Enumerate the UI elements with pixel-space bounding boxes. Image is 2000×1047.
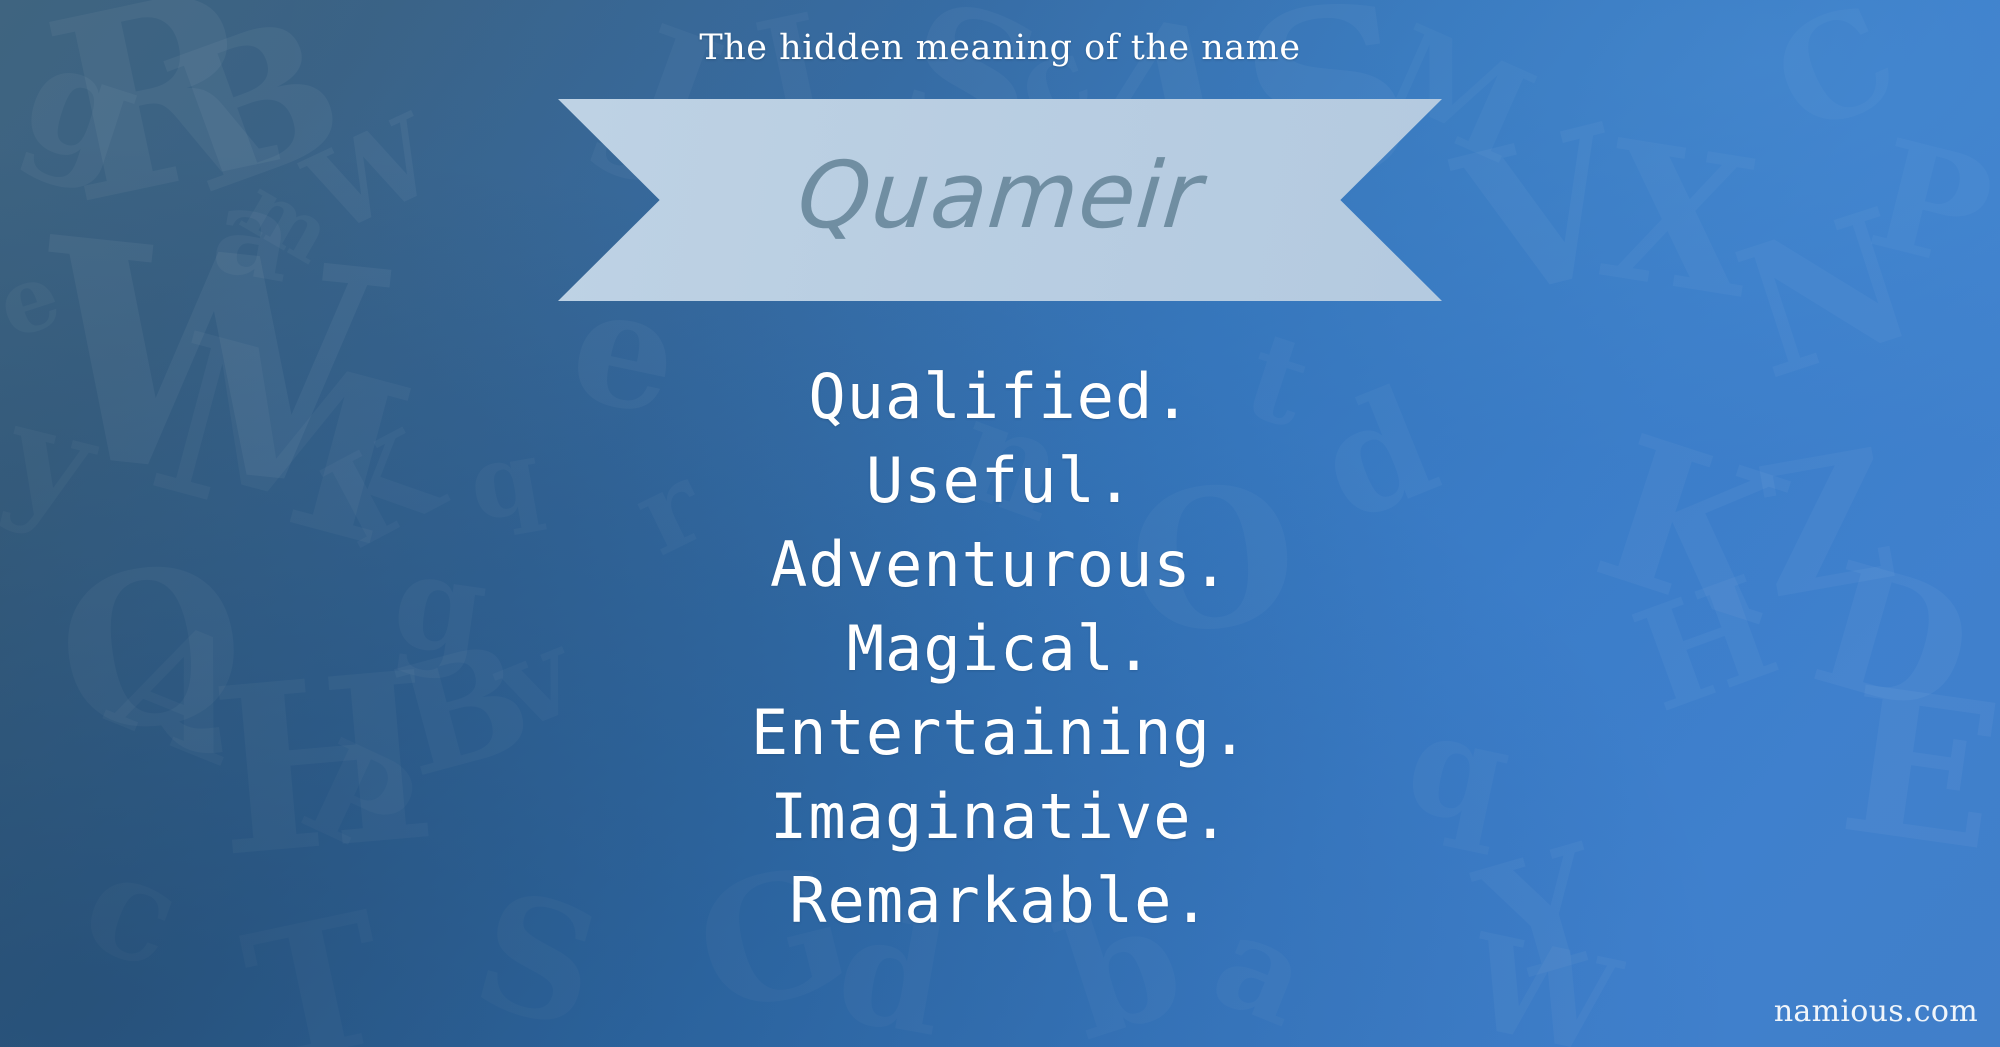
meaning-line: Adventurous. <box>0 523 2000 607</box>
texture-letter: e <box>0 248 70 351</box>
meaning-line: Entertaining. <box>0 691 2000 775</box>
meaning-list: Qualified.Useful.Adventurous.Magical.Ent… <box>0 355 2000 943</box>
texture-letter: C <box>1756 0 1915 157</box>
name-text: Quameir <box>793 142 1207 259</box>
page-title: The hidden meaning of the name <box>0 28 2000 68</box>
texture-letter: m <box>231 164 344 276</box>
name-banner: Quameir <box>558 99 1442 301</box>
texture-letter: X <box>1591 115 1766 326</box>
texture-letter: W <box>293 99 451 251</box>
texture-letter: V <box>1443 99 1642 331</box>
meaning-line: Imaginative. <box>0 775 2000 859</box>
meaning-line: Remarkable. <box>0 859 2000 943</box>
meaning-line: Magical. <box>0 607 2000 691</box>
site-watermark: namious.com <box>1774 994 1978 1029</box>
texture-letter: P <box>1859 119 2000 292</box>
name-meaning-card: RWgBaWmQAHyeMKgBPqevJIScASMVXNPCKZDHEYWd… <box>0 0 2000 1047</box>
meaning-line: Qualified. <box>0 355 2000 439</box>
meaning-line: Useful. <box>0 439 2000 523</box>
texture-letter: a <box>205 169 302 301</box>
